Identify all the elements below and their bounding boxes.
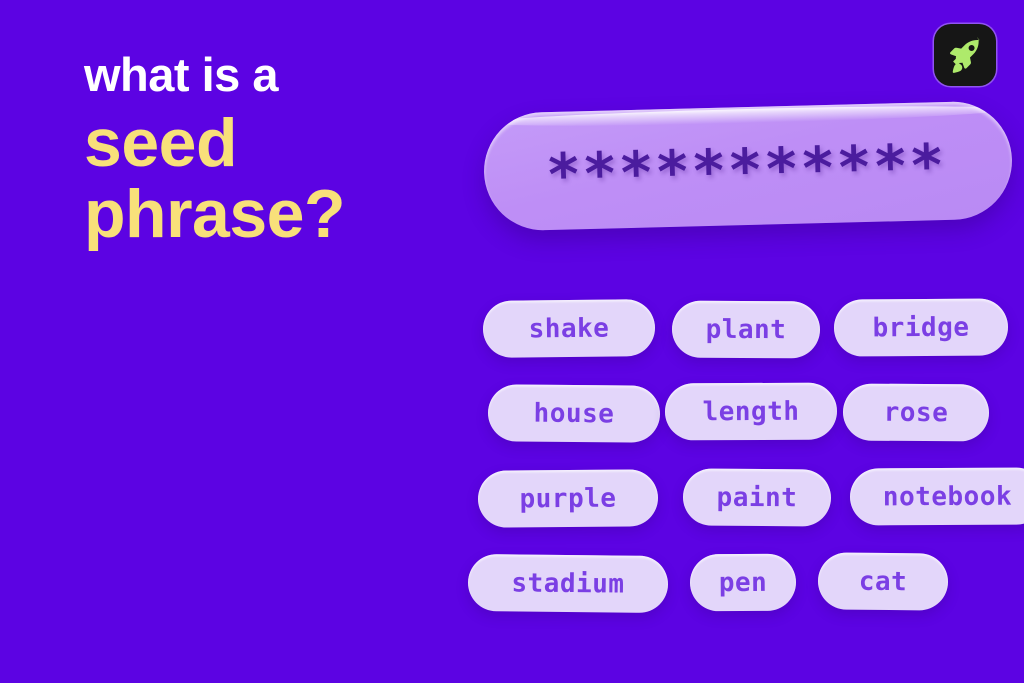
seed-word-pill[interactable]: length [665,383,837,441]
seed-word-label: paint [717,484,798,511]
headline-line-3: phrase? [84,181,484,248]
seed-word-label: length [702,398,799,425]
seed-word-label: notebook [883,483,1012,510]
seed-word-row: shakeplantbridge [462,296,1024,381]
headline-line-2: seed [84,110,484,177]
seed-word-row: houselengthrose [462,381,1024,466]
seed-word-label: pen [719,569,768,595]
seed-word-pill[interactable]: cat [818,552,948,610]
seed-word-pill[interactable]: pen [690,554,796,612]
seed-word-pill[interactable]: shake [483,299,656,358]
seed-word-pill[interactable]: purple [478,469,658,528]
page-title: what is a seed phrase? [84,52,484,247]
seed-word-pill[interactable]: paint [683,468,831,526]
poster-canvas: what is a seed phrase? *********** shake… [0,0,1024,683]
password-input[interactable]: *********** [483,100,1014,231]
seed-word-label: shake [528,315,609,342]
seed-word-pill[interactable]: rose [843,383,989,441]
seed-word-label: rose [884,399,949,425]
seed-word-grid: shakeplantbridgehouselengthrosepurplepai… [462,296,1024,636]
password-masked-value: *********** [548,136,949,204]
seed-word-label: purple [519,485,616,512]
seed-word-label: bridge [872,314,969,341]
seed-word-row: stadiumpencat [462,551,1024,636]
seed-word-pill[interactable]: house [488,384,660,442]
seed-word-label: house [533,400,614,427]
rocket-icon [945,35,985,75]
brand-logo-badge[interactable] [934,24,996,86]
seed-word-label: cat [859,568,908,594]
headline-line-1: what is a [84,52,484,98]
seed-word-label: plant [706,316,787,342]
seed-word-pill[interactable]: bridge [834,298,1008,356]
seed-word-pill[interactable]: notebook [850,467,1024,525]
seed-word-pill[interactable]: stadium [468,554,669,613]
seed-word-pill[interactable]: plant [672,301,820,359]
seed-word-label: stadium [511,570,624,597]
seed-word-row: purplepaintnotebook [462,466,1024,551]
